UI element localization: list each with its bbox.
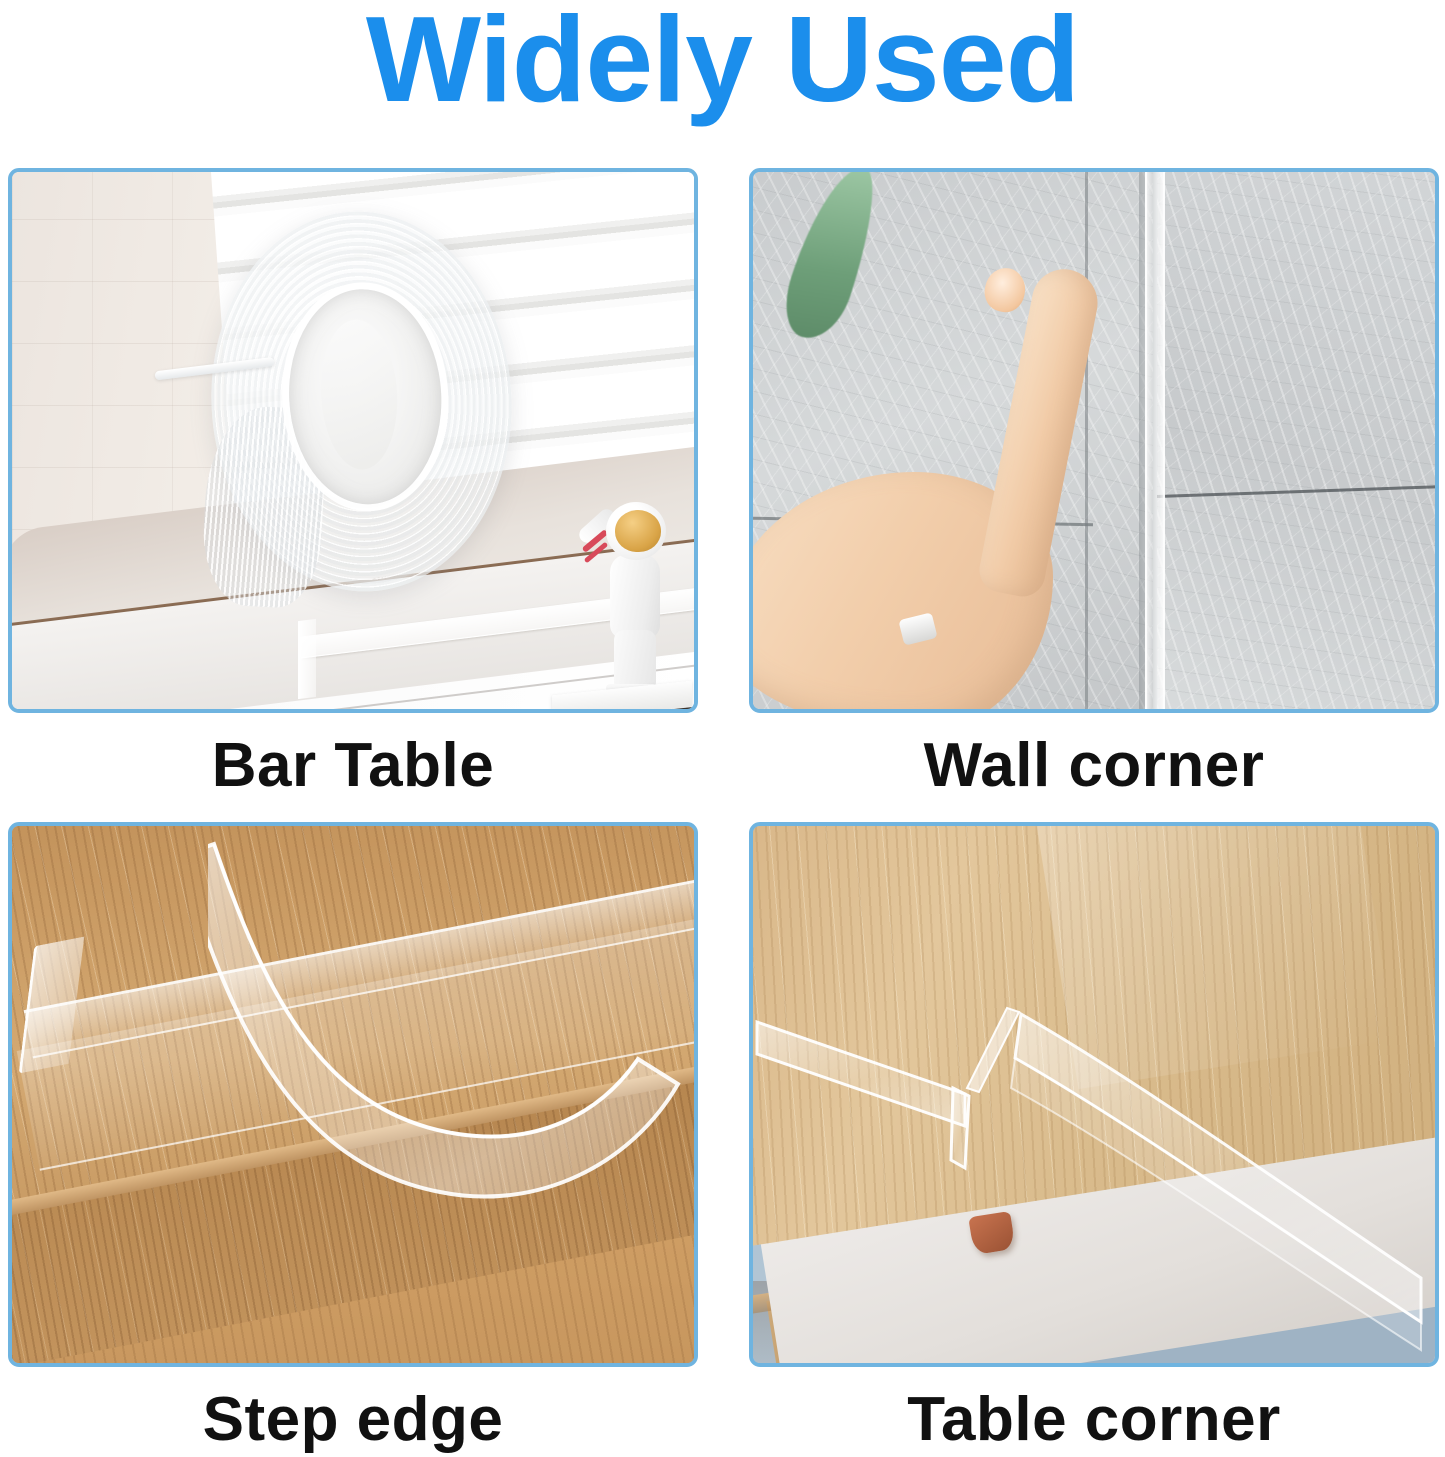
photo-wall-corner: [749, 168, 1439, 713]
corner-tape-guard-shape: [753, 826, 1435, 1363]
caption-wall-corner: Wall corner: [749, 729, 1439, 803]
marble-tile-right: [1157, 172, 1435, 709]
photo-bar-table: [8, 168, 698, 713]
caption-step-edge: Step edge: [8, 1383, 698, 1457]
caption-bar-table: Bar Table: [8, 729, 698, 803]
photo-step-edge: [8, 822, 698, 1367]
caption-table-corner: Table corner: [749, 1383, 1439, 1457]
astronaut-legs: [614, 630, 656, 690]
applied-tape-side: [298, 619, 316, 699]
panel-grid: Bar Table Wall corner: [0, 168, 1445, 1453]
panel-bar-table: Bar Table: [8, 168, 698, 803]
panel-wall-corner: Wall corner: [749, 168, 1439, 803]
tile-seam-vertical: [1085, 172, 1088, 709]
panel-step-edge: Step edge: [8, 822, 698, 1457]
page-title: Widely Used: [0, 0, 1445, 124]
astronaut-body: [610, 554, 660, 639]
panel-table-corner: Table corner: [749, 822, 1439, 1457]
astronaut-visor: [615, 510, 661, 552]
tape-roll: [151, 192, 552, 631]
photo-table-corner: [749, 822, 1439, 1367]
peeling-tape-ribbon: [208, 834, 538, 1274]
astronaut-figurine: [568, 502, 678, 709]
peeling-tape-ribbon-shape: [208, 834, 688, 1354]
corner-tape-guard: [753, 826, 1435, 1363]
clear-tape-strip: [1145, 172, 1165, 709]
